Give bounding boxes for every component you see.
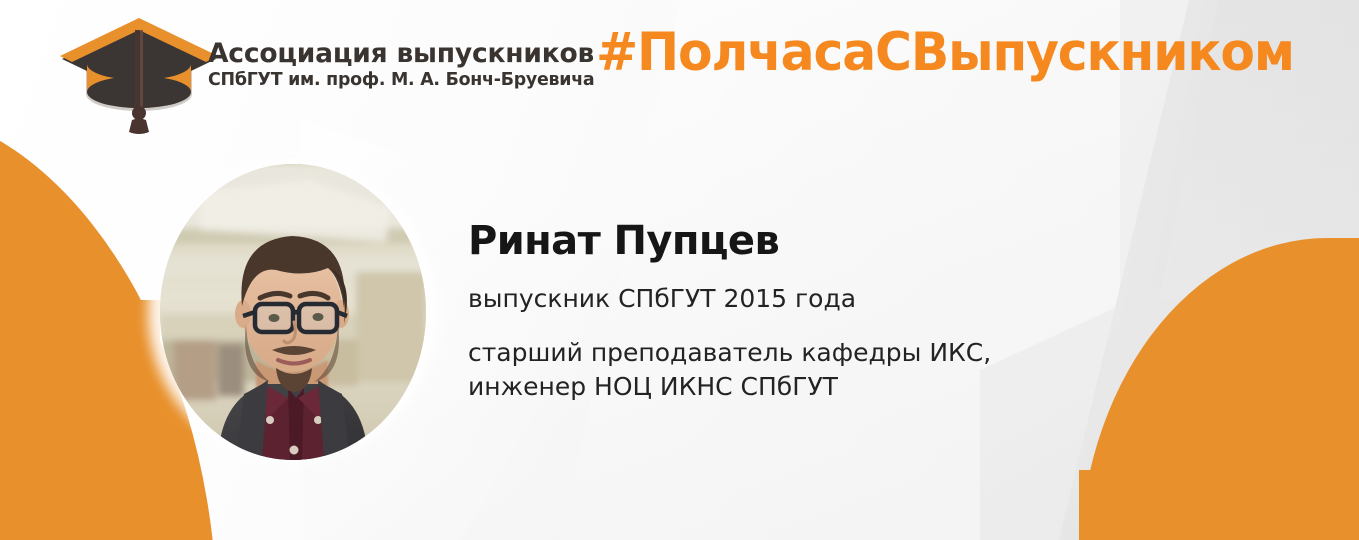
alumni-announcement-banner: Ассоциация выпускников СПбГУТ им. проф. …: [0, 0, 1359, 540]
graduation-cap-icon: [56, 12, 222, 134]
logo-title: Ассоциация выпускников: [208, 40, 608, 68]
hashtag-title: #ПолчасаСВыпускником: [596, 26, 1294, 79]
person-graduation: выпускник СПбГУТ 2015 года: [468, 283, 1108, 314]
person-name: Ринат Пупцев: [468, 220, 1108, 263]
person-role-line1: старший преподаватель кафедры ИКС,: [468, 336, 1108, 370]
logo-text: Ассоциация выпускников СПбГУТ им. проф. …: [208, 40, 608, 92]
association-logo: Ассоциация выпускников СПбГУТ им. проф. …: [56, 12, 556, 132]
portrait-container: [148, 152, 438, 472]
person-role: старший преподаватель кафедры ИКС, инжен…: [468, 336, 1108, 404]
person-info: Ринат Пупцев выпускник СПбГУТ 2015 года …: [468, 220, 1108, 404]
person-role-line2: инженер НОЦ ИКНС СПбГУТ: [468, 370, 1108, 404]
portrait-photo: [160, 164, 426, 460]
logo-subtitle: СПбГУТ им. проф. М. А. Бонч-Бруевича: [208, 70, 608, 92]
